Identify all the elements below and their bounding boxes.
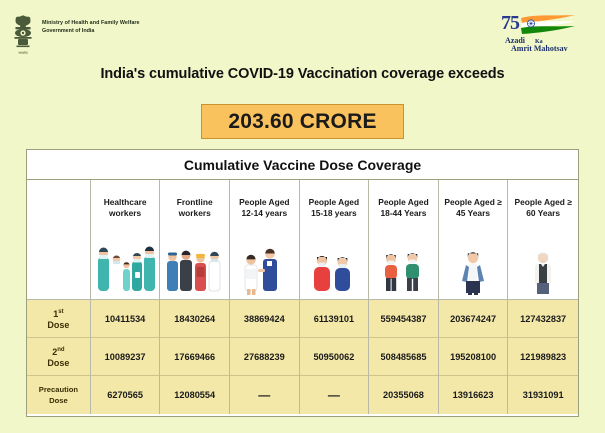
value-45plus-dose1-text: 203674247 [450, 314, 496, 324]
amrit-mahotsav-text: Amrit Mahotsav [511, 44, 568, 53]
government-name: Government of India [42, 27, 140, 35]
column-aged-12-14: People Aged 12-14 years [230, 180, 300, 414]
header-healthcare-workers-label: Healthcare workers [94, 197, 157, 219]
corner-cell [27, 180, 90, 236]
value-healthcare-dose2: 10089237 [91, 338, 160, 376]
row1-second: Dose [47, 320, 69, 330]
value-frontline-precaution-text: 12080554 [174, 390, 215, 400]
value-45plus-precaution: 13916623 [439, 376, 508, 414]
value-45plus-dose2: 195208100 [439, 338, 508, 376]
ministry-branding: सत्यमेव Ministry of Health and Family We… [10, 14, 140, 58]
seventy-five-numeral: 75 [501, 12, 519, 35]
header-aged-12-14-label: People Aged 12-14 years [233, 197, 296, 219]
value-18-44-precaution-text: 20355068 [383, 390, 424, 400]
value-healthcare-precaution: 6270565 [91, 376, 160, 414]
row3-second: Dose [49, 396, 68, 405]
headline-suffix: coverage exceeds [377, 66, 504, 82]
page-title: India's cumulative COVID-19 Vaccination … [0, 66, 605, 82]
table-title: Cumulative Vaccine Dose Coverage [27, 150, 578, 180]
value-15-18-precaution-text: — [328, 388, 340, 402]
headline-emphasis: COVID-19 Vaccination [228, 66, 378, 82]
header-healthcare-workers: Healthcare workers [91, 180, 160, 236]
header-aged-60-plus: People Aged ≥ 60 Years [508, 180, 578, 236]
value-60plus-dose1: 127432837 [508, 300, 578, 338]
value-12-14-dose2-text: 27688239 [244, 352, 285, 362]
column-aged-18-44: People Aged 18-44 Years [369, 180, 439, 414]
value-60plus-precaution-text: 31931091 [523, 390, 564, 400]
value-18-44-dose1: 559454387 [369, 300, 438, 338]
value-healthcare-dose2-text: 10089237 [105, 352, 146, 362]
ministry-name: Ministry of Health and Family Welfare [42, 19, 140, 27]
header-aged-60-plus-label: People Aged ≥ 60 Years [511, 197, 575, 219]
table-title-text: Cumulative Vaccine Dose Coverage [184, 157, 421, 173]
value-45plus-precaution-text: 13916623 [453, 390, 494, 400]
indian-flag-icon [519, 14, 577, 43]
value-frontline-dose2: 17669466 [160, 338, 229, 376]
children-12-14-illustration [230, 236, 299, 300]
healthcare-workers-illustration [91, 236, 160, 300]
india-state-emblem-icon: सत्यमेव [10, 14, 36, 58]
total-doses-badge: 203.60 CRORE [201, 104, 404, 139]
corner-art-cell [27, 236, 90, 300]
value-15-18-dose1: 61139101 [300, 300, 369, 338]
row2-sup: nd [57, 347, 64, 353]
value-60plus-precaution: 31931091 [508, 376, 578, 414]
row-label-dose-1: 1stDose [27, 300, 90, 338]
value-healthcare-dose1: 10411534 [91, 300, 160, 338]
value-15-18-dose2-text: 50950062 [313, 352, 354, 362]
value-60plus-dose1-text: 127432837 [520, 314, 566, 324]
header-frontline-workers: Frontline workers [160, 180, 229, 236]
svg-text:सत्यमेव: सत्यमेव [18, 50, 27, 55]
column-aged-45-plus: People Aged ≥ 45 Years [439, 180, 509, 414]
row3-main: Precaution [39, 385, 78, 394]
value-frontline-precaution: 12080554 [160, 376, 229, 414]
value-healthcare-dose1-text: 10411534 [105, 314, 145, 324]
vaccine-coverage-table: Cumulative Vaccine Dose Coverage 1stDose… [26, 149, 579, 417]
value-frontline-dose1-text: 18430264 [174, 314, 215, 324]
value-12-14-dose1: 38869424 [230, 300, 299, 338]
value-60plus-dose2-text: 121989823 [520, 352, 566, 362]
header-aged-15-18: People Aged 15-18 years [300, 180, 369, 236]
value-15-18-precaution: — [300, 376, 369, 414]
value-12-14-dose2: 27688239 [230, 338, 299, 376]
column-frontline-workers: Frontline workers [160, 180, 230, 414]
row-label-precaution-dose: PrecautionDose [27, 376, 90, 414]
value-18-44-dose1-text: 559454387 [380, 314, 426, 324]
header-aged-45-plus: People Aged ≥ 45 Years [439, 180, 508, 236]
value-12-14-precaution: — [230, 376, 299, 414]
value-frontline-dose2-text: 17669466 [174, 352, 215, 362]
senior-60plus-illustration [508, 236, 578, 300]
header-aged-12-14: People Aged 12-14 years [230, 180, 299, 236]
value-45plus-dose1: 203674247 [439, 300, 508, 338]
teens-15-18-illustration [300, 236, 369, 300]
row1-sup: st [58, 309, 63, 315]
value-18-44-dose2: 508485685 [369, 338, 438, 376]
column-aged-60-plus: People Aged ≥ 60 Years 1274 [508, 180, 578, 414]
header-frontline-workers-label: Frontline workers [163, 197, 226, 219]
value-18-44-dose2-text: 508485685 [380, 352, 426, 362]
frontline-workers-illustration [160, 236, 229, 300]
header-aged-45-plus-label: People Aged ≥ 45 Years [442, 197, 505, 219]
value-healthcare-precaution-text: 6270565 [107, 390, 143, 400]
total-doses-value: 203.60 CRORE [228, 110, 376, 134]
adult-45plus-illustration [439, 236, 508, 300]
header-aged-18-44-label: People Aged 18-44 Years [372, 197, 435, 219]
row-label-column: 1stDose 2ndDose PrecautionDose [27, 180, 91, 414]
value-45plus-dose2-text: 195208100 [450, 352, 496, 362]
header-aged-15-18-label: People Aged 15-18 years [303, 197, 366, 219]
header-aged-18-44: People Aged 18-44 Years [369, 180, 438, 236]
adults-18-44-illustration [369, 236, 438, 300]
value-12-14-dose1-text: 38869424 [244, 314, 285, 324]
row-label-dose-2: 2ndDose [27, 338, 90, 376]
azadi-ka-amrit-mahotsav-logo: 75 Azadi Ka Amrit Mahotsav [495, 12, 591, 58]
value-15-18-dose1-text: 61139101 [314, 314, 354, 324]
value-12-14-precaution-text: — [258, 388, 270, 402]
infographic-root: सत्यमेव Ministry of Health and Family We… [0, 0, 605, 433]
column-healthcare-workers: Healthcare workers [91, 180, 161, 414]
column-aged-15-18: People Aged 15-18 years [300, 180, 370, 414]
value-18-44-precaution: 20355068 [369, 376, 438, 414]
row2-second: Dose [47, 358, 69, 368]
value-15-18-dose2: 50950062 [300, 338, 369, 376]
value-frontline-dose1: 18430264 [160, 300, 229, 338]
headline-prefix: India's cumulative [100, 66, 227, 82]
value-60plus-dose2: 121989823 [508, 338, 578, 376]
table-grid: 1stDose 2ndDose PrecautionDose Healthcar… [27, 180, 578, 414]
